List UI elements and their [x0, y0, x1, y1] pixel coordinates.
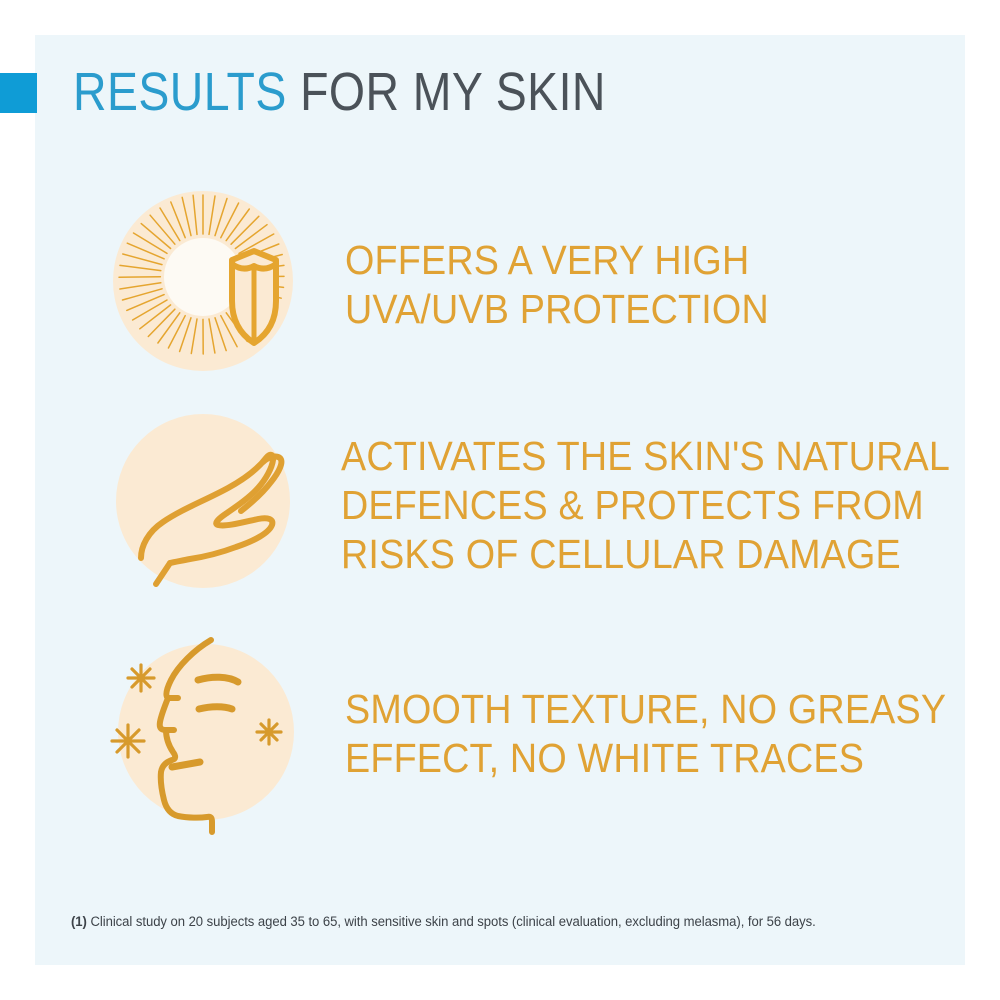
- sun-shield-icon: [108, 186, 304, 382]
- benefit-3-line-2: EFFECT, NO WHITE TRACES: [345, 734, 946, 783]
- benefit-3-line-1: SMOOTH TEXTURE, NO GREASY: [345, 685, 946, 734]
- face-profile-sparkle-icon: [108, 636, 304, 832]
- footnote: (1) Clinical study on 20 subjects aged 3…: [71, 913, 816, 931]
- hand-leaf-icon: [108, 406, 304, 602]
- benefit-2-line-1: ACTIVATES THE SKIN'S NATURAL: [341, 432, 950, 481]
- benefit-2-text: ACTIVATES THE SKIN'S NATURAL DEFENCES & …: [341, 432, 950, 579]
- footnote-marker: (1): [71, 914, 87, 929]
- benefits-list: OFFERS A VERY HIGH UVA/UVB PROTECTION AC…: [0, 0, 1000, 1000]
- benefit-2-line-3: RISKS OF CELLULAR DAMAGE: [341, 530, 950, 579]
- benefit-1-line-1: OFFERS A VERY HIGH: [345, 236, 769, 285]
- benefit-2-line-2: DEFENCES & PROTECTS FROM: [341, 481, 950, 530]
- benefit-1-line-2: UVA/UVB PROTECTION: [345, 285, 769, 334]
- benefit-1-text: OFFERS A VERY HIGH UVA/UVB PROTECTION: [345, 236, 769, 334]
- benefit-profile-row-3: SMOOTH TEXTURE, NO GREASY EFFECT, NO WHI…: [108, 636, 999, 832]
- benefit-row-2: ACTIVATES THE SKIN'S NATURAL DEFENCES & …: [108, 406, 1000, 602]
- benefit-row-1: OFFERS A VERY HIGH UVA/UVB PROTECTION: [108, 186, 806, 382]
- infographic-page: RESULTS FOR MY SKIN: [0, 0, 1000, 1000]
- benefit-3-text: SMOOTH TEXTURE, NO GREASY EFFECT, NO WHI…: [345, 685, 946, 783]
- footnote-text: Clinical study on 20 subjects aged 35 to…: [87, 914, 816, 929]
